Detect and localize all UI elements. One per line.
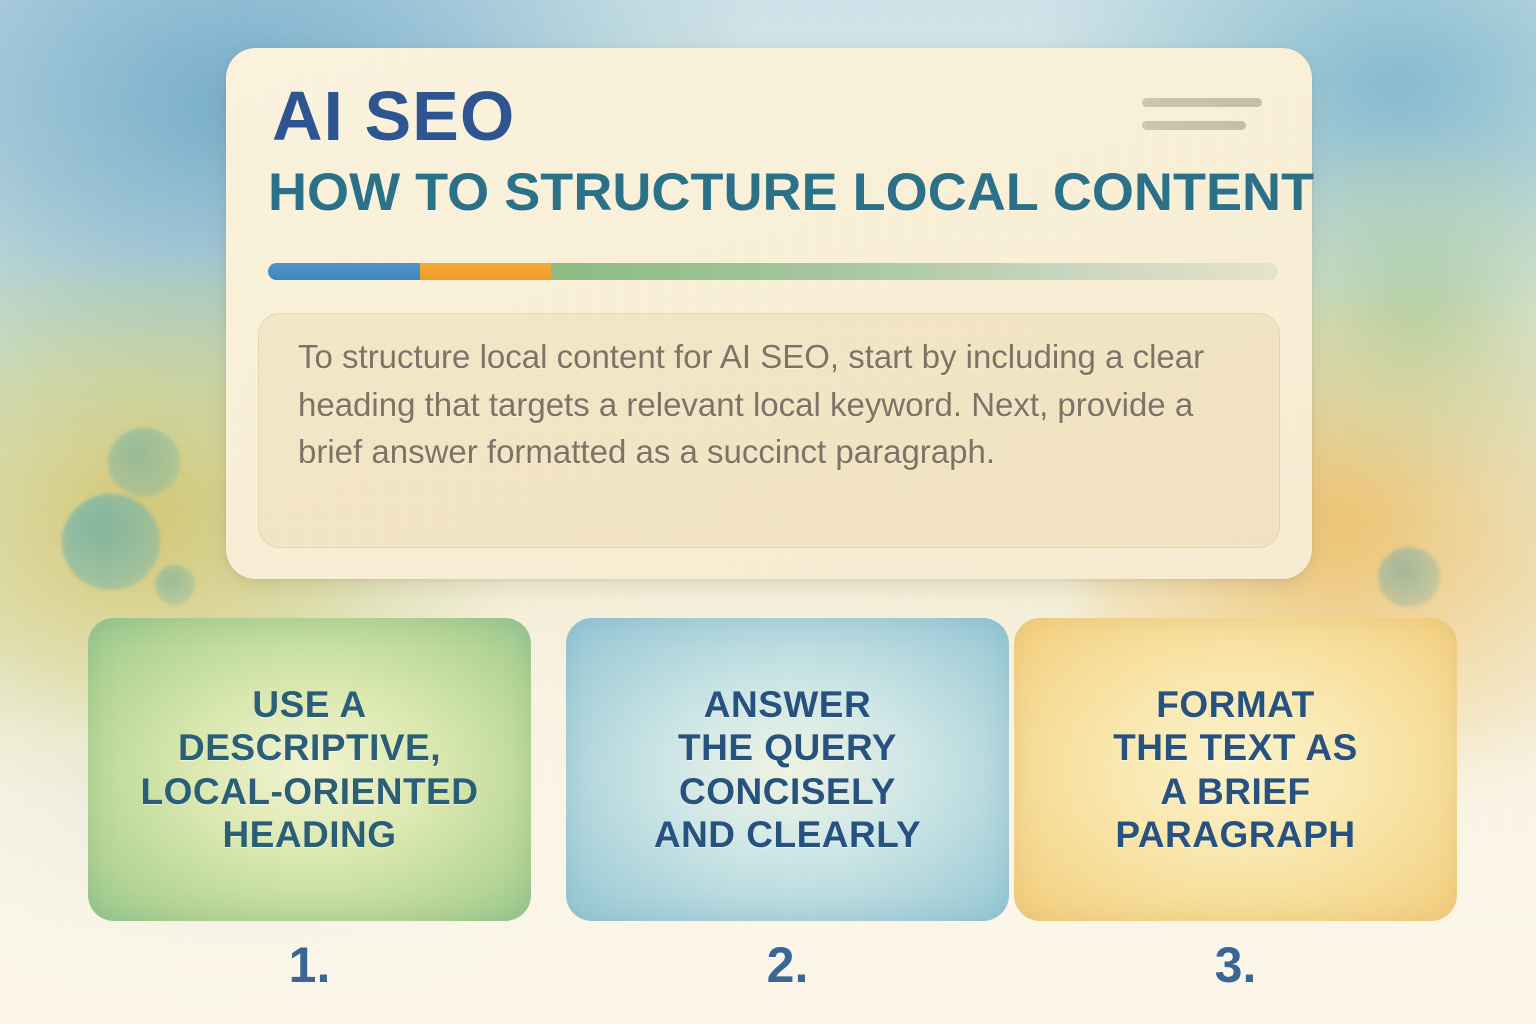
step-number-3: 3. [1014,936,1457,994]
step-label-3: FORMATTHE TEXT ASA BRIEFPARAGRAPH [1103,683,1368,856]
decorative-blob-1 [108,428,180,496]
page-subtitle: HOW TO STRUCTURE LOCAL CONTENT [268,166,1314,219]
menu-line-top [1142,98,1262,107]
step-label-2: ANSWERTHE QUERYCONCISELYAND CLEARLY [644,683,931,856]
steps-row: USE ADESCRIPTIVE,LOCAL-ORIENTEDHEADING A… [0,618,1536,928]
infographic-canvas: AI SEO HOW TO STRUCTURE LOCAL CONTENT To… [0,0,1536,1024]
page-title: AI SEO [272,81,515,151]
hero-card: AI SEO HOW TO STRUCTURE LOCAL CONTENT To… [226,48,1312,579]
progress-segment-blue [268,263,420,280]
step-card-3: FORMATTHE TEXT ASA BRIEFPARAGRAPH [1014,618,1457,921]
step-number-1: 1. [88,936,531,994]
progress-segment-orange [420,263,551,280]
menu-lines-icon [1142,98,1262,134]
step-card-2: ANSWERTHE QUERYCONCISELYAND CLEARLY [566,618,1009,921]
step-number-2: 2. [566,936,1009,994]
decorative-blob-3 [155,565,195,605]
decorative-blob-4 [1378,547,1440,607]
progress-segment-green [551,263,1278,280]
menu-line-bottom [1142,121,1246,130]
step-card-1: USE ADESCRIPTIVE,LOCAL-ORIENTEDHEADING [88,618,531,921]
answer-panel: To structure local content for AI SEO, s… [258,313,1280,548]
step-label-1: USE ADESCRIPTIVE,LOCAL-ORIENTEDHEADING [131,683,489,856]
answer-text: To structure local content for AI SEO, s… [298,333,1248,476]
decorative-blob-2 [62,494,160,590]
progress-bar [268,263,1278,280]
